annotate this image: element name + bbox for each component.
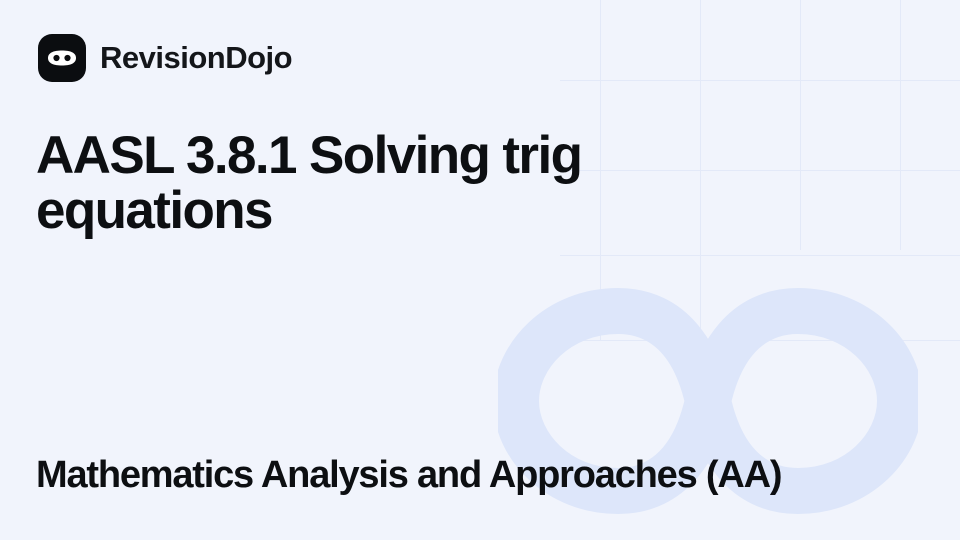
brand-lockup: RevisionDojo [38,34,926,82]
course-subtitle: Mathematics Analysis and Approaches (AA) [36,455,781,496]
brand-name: RevisionDojo [100,40,292,76]
ninja-mask-icon [38,34,86,82]
slide-canvas: RevisionDojo AASL 3.8.1 Solving trig equ… [0,0,960,540]
page-title: AASL 3.8.1 Solving trig equations [36,128,676,238]
